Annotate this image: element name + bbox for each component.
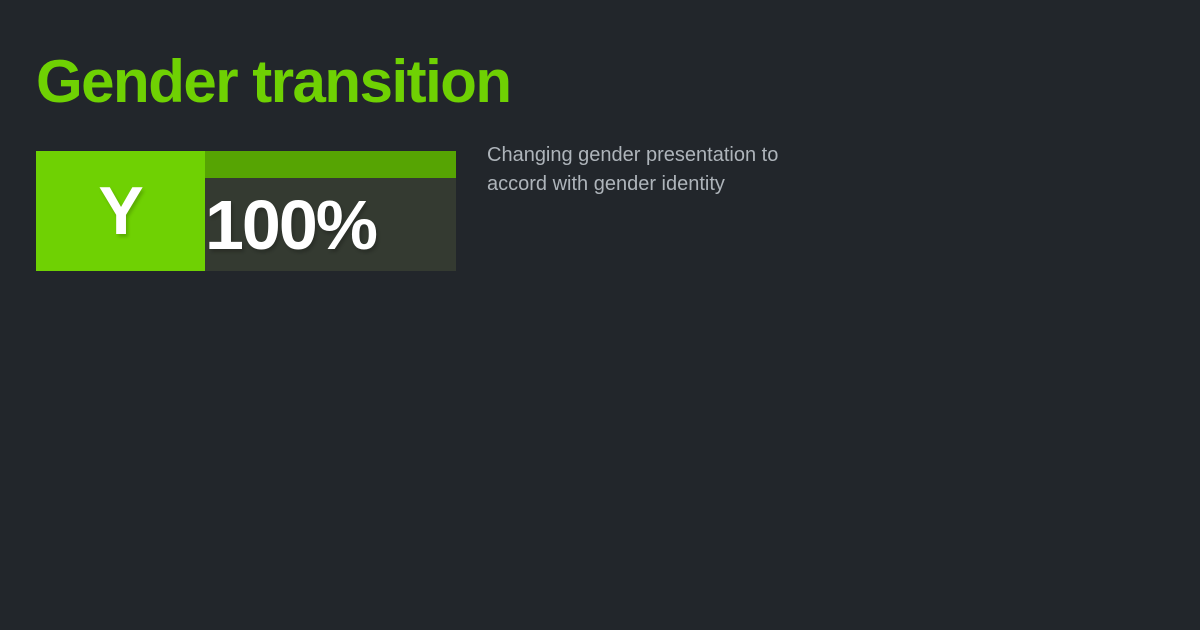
page-title: Gender transition bbox=[36, 49, 511, 115]
description-text: Changing gender presentation to accord w… bbox=[487, 141, 837, 199]
grade-badge: Y bbox=[36, 151, 205, 271]
percent-value: 100% bbox=[205, 178, 456, 271]
percent-meter: 100% bbox=[205, 151, 456, 271]
score-row: Y 100% bbox=[36, 151, 456, 271]
grade-letter: Y bbox=[98, 177, 142, 245]
score-card: Gender transition Y 100% Changing gender… bbox=[0, 0, 1200, 630]
meter-fill bbox=[205, 151, 456, 178]
